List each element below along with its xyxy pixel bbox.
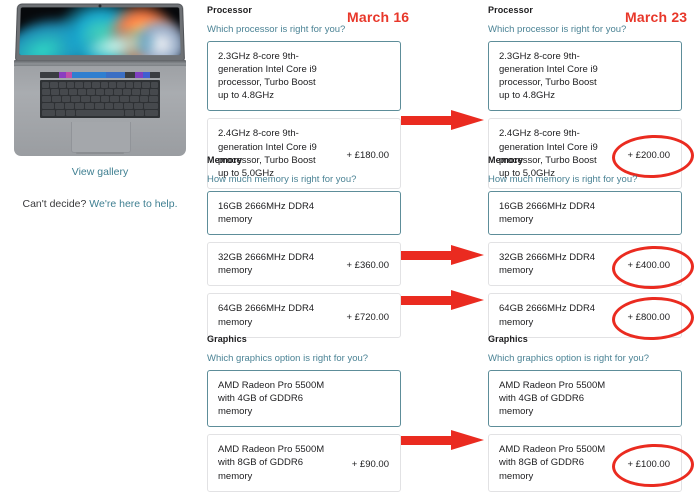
section-title: Memory	[488, 155, 682, 165]
option-price: + £100.00	[627, 459, 672, 470]
keyboard-row	[42, 82, 158, 88]
section-help-question[interactable]: How much memory is right for you?	[207, 174, 356, 185]
option-price	[670, 209, 672, 220]
option-price-wrap: + £360.00	[346, 255, 391, 273]
option-description: AMD Radeon Pro 5500M with 8GB of GDDR6 m…	[499, 443, 605, 482]
option-list: AMD Radeon Pro 5500M with 4GB of GDDR6 m…	[207, 370, 401, 492]
option-price-wrap	[670, 67, 672, 85]
option-list: 16GB 2666MHz DDR4 memory32GB 2666MHz DDR…	[488, 191, 682, 338]
arrow-processor	[401, 110, 486, 130]
option-price	[670, 395, 672, 406]
laptop-screen-wallpaper	[19, 7, 180, 55]
section-help-question[interactable]: How much memory is right for you?	[488, 174, 637, 185]
section-help-question[interactable]: Which graphics option is right for you?	[207, 353, 368, 364]
option-description: 64GB 2666MHz DDR4 memory	[218, 302, 314, 328]
section-help-question[interactable]: Which processor is right for you?	[488, 24, 626, 35]
option-box[interactable]: 16GB 2666MHz DDR4 memory	[207, 191, 401, 235]
section-title: Processor	[207, 5, 401, 15]
option-price-wrap: + £720.00	[346, 307, 391, 325]
option-price-wrap	[670, 390, 672, 408]
arrow-head	[451, 110, 484, 130]
option-description: 16GB 2666MHz DDR4 memory	[499, 200, 595, 226]
arrow-graphics	[401, 430, 486, 450]
laptop-base	[14, 66, 186, 156]
option-price: + £90.00	[352, 459, 391, 470]
option-price-wrap: + £100.00	[627, 454, 672, 472]
option-box[interactable]: AMD Radeon Pro 5500M with 4GB of GDDR6 m…	[488, 370, 682, 427]
arrow-head	[451, 245, 484, 265]
config-section-graphics: GraphicsWhich graphics option is right f…	[488, 334, 682, 499]
section-help-question[interactable]: Which graphics option is right for you?	[488, 353, 649, 364]
keyboard-row	[42, 96, 158, 102]
arrow-memory-32	[401, 245, 486, 265]
touch-bar	[40, 72, 160, 78]
section-title: Memory	[207, 155, 401, 165]
laptop-lid	[16, 4, 184, 60]
view-gallery-link[interactable]: View gallery	[0, 166, 200, 178]
arrow-memory-64	[401, 290, 486, 310]
option-price-wrap: + £400.00	[627, 255, 672, 273]
option-description: 2.3GHz 8-core 9th- generation Intel Core…	[499, 50, 598, 102]
option-box[interactable]: 64GB 2666MHz DDR4 memory+ £720.00	[207, 293, 401, 337]
option-price-wrap	[389, 390, 391, 408]
option-box[interactable]: 16GB 2666MHz DDR4 memory	[488, 191, 682, 235]
option-box[interactable]: 32GB 2666MHz DDR4 memory+ £400.00	[488, 242, 682, 286]
arrow-head	[451, 430, 484, 450]
keyboard	[40, 80, 160, 118]
option-price-wrap	[670, 204, 672, 222]
section-title: Processor	[488, 5, 682, 15]
macbook-pro-product-image[interactable]	[14, 4, 186, 156]
option-description: 32GB 2666MHz DDR4 memory	[499, 251, 595, 277]
keyboard-row	[42, 89, 158, 95]
option-description: 2.3GHz 8-core 9th- generation Intel Core…	[218, 50, 317, 102]
option-price: + £400.00	[627, 260, 672, 271]
option-list: 16GB 2666MHz DDR4 memory32GB 2666MHz DDR…	[207, 191, 401, 338]
config-section-graphics: GraphicsWhich graphics option is right f…	[207, 334, 401, 499]
option-box[interactable]: 2.3GHz 8-core 9th- generation Intel Core…	[207, 41, 401, 111]
keyboard-row	[42, 103, 158, 109]
keyboard-row	[42, 110, 158, 116]
option-price-wrap: + £800.00	[627, 307, 672, 325]
option-list: AMD Radeon Pro 5500M with 4GB of GDDR6 m…	[488, 370, 682, 492]
option-price	[670, 72, 672, 83]
contact-help-link[interactable]: We're here to help.	[89, 198, 177, 210]
option-box[interactable]: 2.3GHz 8-core 9th- generation Intel Core…	[488, 41, 682, 111]
product-gallery-pane: View gallery Can't decide? We're here to…	[0, 0, 200, 466]
section-help-question[interactable]: Which processor is right for you?	[207, 24, 345, 35]
option-box[interactable]: AMD Radeon Pro 5500M with 8GB of GDDR6 m…	[488, 434, 682, 491]
option-price: + £800.00	[627, 312, 672, 323]
help-prompt-text: Can't decide?	[22, 198, 89, 210]
option-box[interactable]: 32GB 2666MHz DDR4 memory+ £360.00	[207, 242, 401, 286]
option-description: 32GB 2666MHz DDR4 memory	[218, 251, 314, 277]
option-box[interactable]: AMD Radeon Pro 5500M with 4GB of GDDR6 m…	[207, 370, 401, 427]
trackpad	[71, 122, 131, 153]
section-title: Graphics	[207, 334, 401, 344]
option-description: AMD Radeon Pro 5500M with 4GB of GDDR6 m…	[218, 379, 324, 418]
option-price	[389, 209, 391, 220]
option-price	[389, 395, 391, 406]
arrow-shaft	[401, 296, 453, 305]
option-price-wrap	[389, 204, 391, 222]
option-box[interactable]: 64GB 2666MHz DDR4 memory+ £800.00	[488, 293, 682, 337]
option-price: + £360.00	[346, 260, 391, 271]
option-description: AMD Radeon Pro 5500M with 4GB of GDDR6 m…	[499, 379, 605, 418]
option-price: + £720.00	[346, 312, 391, 323]
help-prompt: Can't decide? We're here to help.	[0, 198, 200, 210]
option-description: AMD Radeon Pro 5500M with 8GB of GDDR6 m…	[218, 443, 324, 482]
arrow-shaft	[401, 436, 453, 445]
option-box[interactable]: AMD Radeon Pro 5500M with 8GB of GDDR6 m…	[207, 434, 401, 491]
option-price-wrap: + £90.00	[352, 454, 391, 472]
arrow-shaft	[401, 116, 453, 125]
arrow-head	[451, 290, 484, 310]
base-lip	[76, 152, 124, 154]
option-description: 16GB 2666MHz DDR4 memory	[218, 200, 314, 226]
option-description: 64GB 2666MHz DDR4 memory	[499, 302, 595, 328]
arrow-shaft	[401, 251, 453, 260]
config-section-memory: MemoryHow much memory is right for you?1…	[207, 155, 401, 345]
option-price-wrap	[389, 67, 391, 85]
option-price	[389, 72, 391, 83]
section-title: Graphics	[488, 334, 682, 344]
config-section-memory: MemoryHow much memory is right for you?1…	[488, 155, 682, 345]
